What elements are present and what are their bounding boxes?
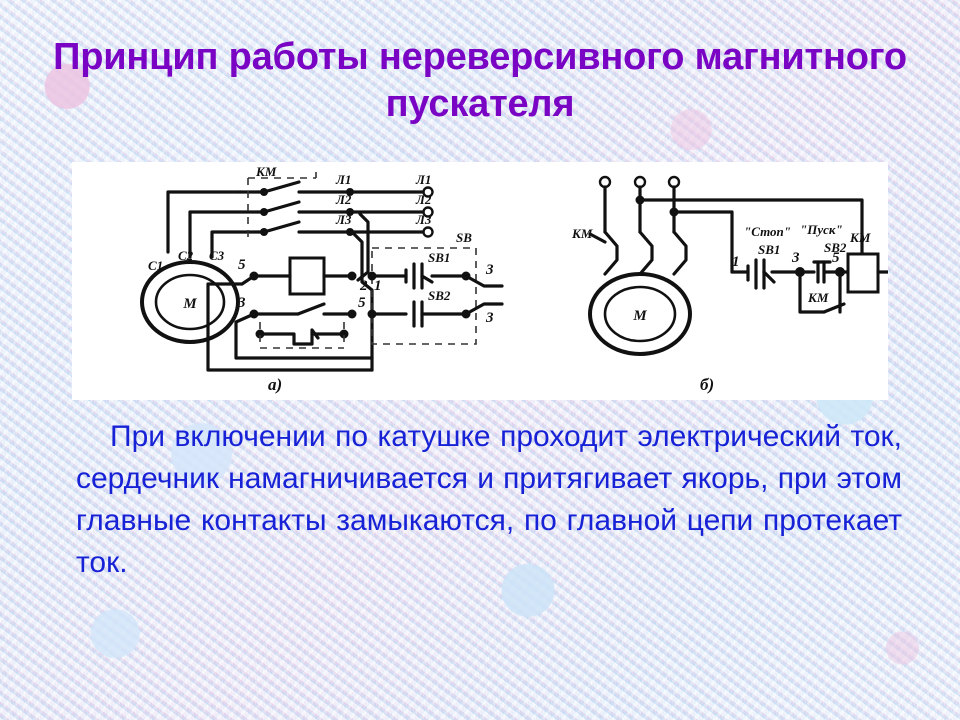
line-label-outer-l3: Л3 — [415, 212, 432, 227]
button-block-label: SB — [456, 230, 472, 245]
stop-button-label: SB1 — [758, 242, 780, 257]
terminal-label-c2: С2 — [178, 248, 194, 263]
wire-number-a-5-bot: 5 — [358, 295, 366, 311]
button-label-sb1: SB1 — [428, 250, 450, 265]
line-label-outer-l1: Л1 — [415, 172, 431, 187]
schematic-figure: .w { stroke:#111; stroke-width:3.2; fill… — [72, 162, 888, 400]
start-button-caption: "Пуск" — [800, 222, 843, 237]
wire-number-b-5: 5 — [832, 250, 840, 266]
button-label-sb2: SB2 — [428, 288, 451, 303]
aux-contact-label-b: КМ — [807, 290, 829, 305]
page-title: Принцип работы нереверсивного магнитного… — [48, 34, 912, 128]
figure-panel: .w { stroke:#111; stroke-width:3.2; fill… — [72, 162, 888, 400]
motor-label-a: М — [182, 296, 197, 312]
line-label-inner-l1: Л1 — [335, 172, 351, 187]
terminal-label-c3: С3 — [209, 248, 225, 263]
wire-number-a-3: 3 — [237, 295, 246, 311]
wire-number-b-3: 3 — [791, 250, 800, 266]
terminal-label-c1: С1 — [148, 258, 163, 273]
wire-number-a-3b: 3 — [485, 262, 494, 278]
line-label-inner-l3: Л3 — [335, 212, 352, 227]
motor-label-b: М — [632, 308, 647, 324]
line-label-outer-l2: Л2 — [415, 192, 432, 207]
wire-number-b-1: 1 — [732, 254, 740, 270]
body-paragraph: При включении по катушке проходит электр… — [76, 416, 902, 626]
coil-label-b: КМ — [849, 230, 871, 245]
figure-caption-a: а) — [268, 375, 282, 394]
line-label-inner-l2: Л2 — [335, 192, 352, 207]
contactor-label-a: КМ — [255, 164, 277, 179]
wire-number-a-3c: 3 — [485, 310, 494, 326]
slide: Принцип работы нереверсивного магнитного… — [0, 0, 960, 720]
wire-number-a-1: 1 — [374, 278, 382, 294]
figure-caption-b: б) — [700, 375, 714, 394]
wire-number-a-5-top: 5 — [238, 257, 246, 273]
wire-number-a-2: 2 — [359, 278, 368, 294]
diagram-b: КМ М "Стоп" SB1 1 3 — [571, 177, 888, 394]
diagram-a: М С1 С2 С3 — [142, 164, 502, 394]
stop-button-caption: "Стоп" — [744, 224, 791, 239]
